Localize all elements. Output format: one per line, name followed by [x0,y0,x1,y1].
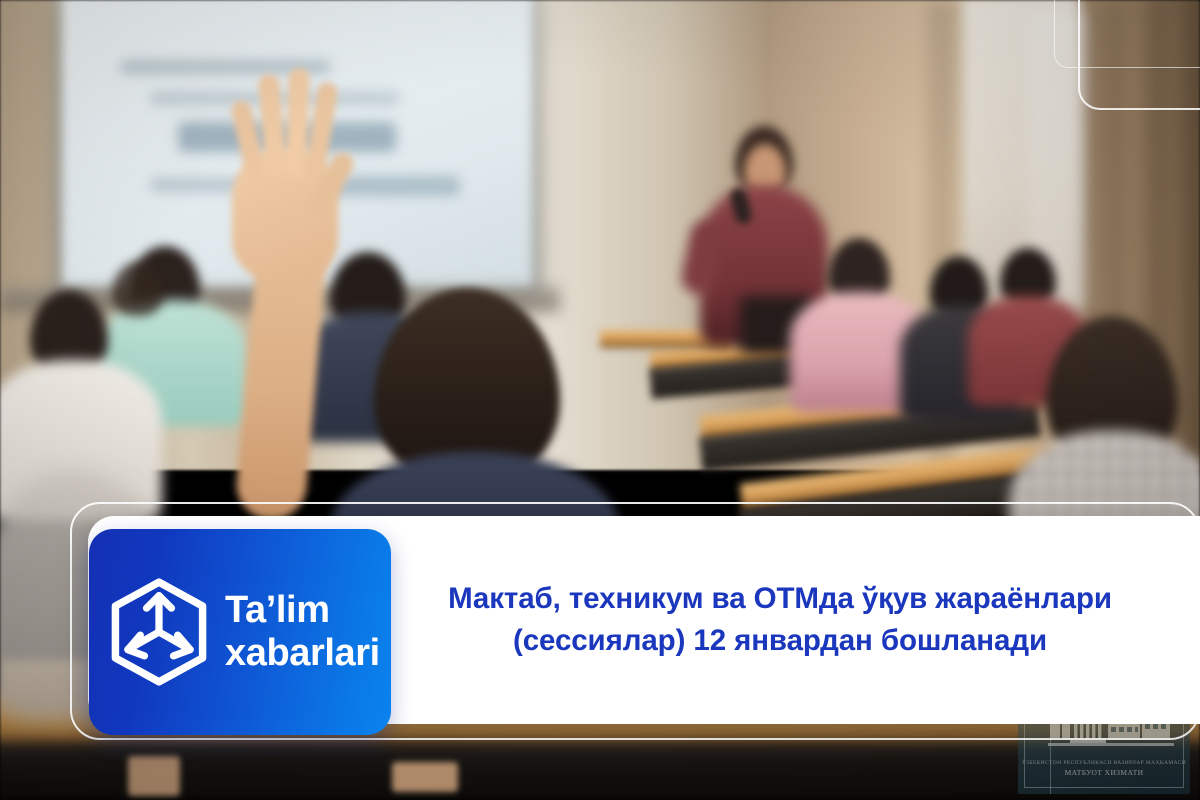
desk-leg [128,756,180,796]
banner-stage: ЎЗБЕКИСТОН РЕСПУБЛИКАСИ ВАЗИРЛАР МАҲКАМА… [0,0,1200,800]
cube-arrows-logo-icon [107,577,211,687]
desk-leg [392,762,458,792]
headline-area: Мактаб, техникум ва ОТМда ўқув жараёнлар… [400,516,1160,724]
headline-text: Мактаб, техникум ва ОТМда ўқув жараёнлар… [446,578,1114,662]
foreground-desk-shadow [0,742,1200,800]
brand-wordmark: Ta’lim xabarlari [225,589,380,674]
brand-wordmark-line2: xabarlari [225,632,380,675]
brand-wordmark-line1: Ta’lim [225,589,380,632]
brand-logo-box[interactable]: Ta’lim xabarlari [89,529,391,735]
